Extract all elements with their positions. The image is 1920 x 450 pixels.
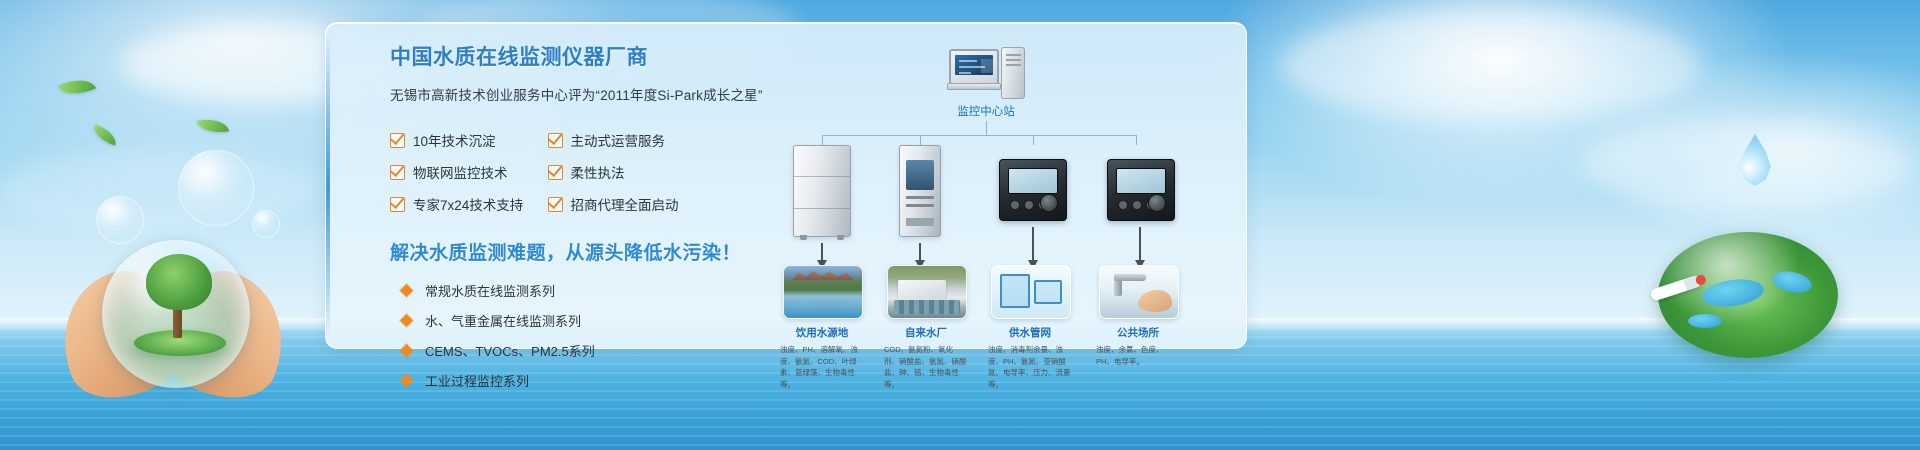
feature-label: 柔性执法	[571, 162, 625, 182]
connector-drop	[822, 135, 823, 145]
down-arrow-icon	[1032, 227, 1034, 261]
page-subtitle: 无锡市高新技术创业服务中心评为“2011年度Si-Park成长之星”	[390, 84, 750, 104]
scenario-card[interactable]: 公共场所 浊度、余氯、色度、PH、电导率。	[1099, 265, 1177, 367]
scenario-card[interactable]: 自来水厂 COD、氨氮粉、氧化剂、硝酸盐、氨氮、硝酸盐、砷、铬、生物毒性等。	[887, 265, 965, 391]
checkbox-checked-icon	[548, 197, 563, 212]
feature-item[interactable]: 柔性执法	[548, 162, 706, 182]
hub-label: 监控中心站	[906, 103, 1066, 119]
scenario-desc: 浊度、余氯、色度、PH、电导率。	[1096, 344, 1180, 367]
pipe-network-photo	[991, 265, 1071, 319]
checklist-row: 专家7x24技术支持 招商代理全面启动	[390, 194, 705, 214]
list-item[interactable]: CEMS、TVOCs、PM2.5系列	[390, 341, 750, 360]
screen-icon	[955, 55, 993, 75]
product-line-list: 常规水质在线监测系列 水、气重金属在线监测系列 CEMS、TVOCs、PM2.5…	[390, 281, 750, 390]
connector-drop	[1136, 135, 1137, 145]
list-item[interactable]: 工业过程监控系列	[390, 371, 750, 390]
content-panel: 中国水质在线监测仪器厂商 无锡市高新技术创业服务中心评为“2011年度Si-Pa…	[325, 22, 1247, 349]
cabinet-analyzer-icon	[793, 145, 851, 237]
feature-label: 主动式运营服务	[571, 130, 666, 150]
feature-checklist: 10年技术沉淀 主动式运营服务 物联网监控技术 柔性执法	[390, 130, 705, 214]
cloud-icon	[1280, 10, 1700, 120]
lake-shape	[1688, 314, 1722, 328]
scenario-card[interactable]: 饮用水源地 浊度、PH、溶解氧、浊度、氨氮、COD、叶绿素、蓝绿藻、生物毒性等。	[783, 265, 861, 391]
device-1[interactable]	[793, 145, 851, 237]
checkbox-checked-icon	[390, 165, 405, 180]
checklist-row: 10年技术沉淀 主动式运营服务	[390, 130, 705, 150]
scenario-desc: COD、氨氮粉、氧化剂、硝酸盐、氨氮、硝酸盐、砷、铬、生物毒性等。	[884, 344, 968, 391]
checkbox-checked-icon	[390, 197, 405, 212]
checkbox-checked-icon	[548, 165, 563, 180]
feature-item[interactable]: 专家7x24技术支持	[390, 194, 548, 214]
feature-item[interactable]: 主动式运营服务	[548, 130, 706, 150]
checkbox-checked-icon	[548, 133, 563, 148]
tree-canopy-icon	[146, 254, 212, 310]
diamond-bullet-icon	[400, 344, 413, 357]
secondary-headline: 解决水质监测难题，从源头降低水污染！	[390, 238, 750, 265]
hands-holding-water-illustration	[60, 230, 290, 400]
green-earth-illustration	[1650, 232, 1846, 372]
down-arrow-icon	[919, 243, 921, 261]
diamond-bullet-icon	[400, 314, 413, 327]
left-column: 中国水质在线监测仪器厂商 无锡市高新技术创业服务中心评为“2011年度Si-Pa…	[390, 41, 750, 401]
rack-analyzer-icon	[899, 145, 941, 237]
server-tower-icon	[1001, 47, 1025, 99]
diamond-bullet-icon	[400, 374, 413, 387]
scenario-desc: 浊度、PH、溶解氧、浊度、氨氮、COD、叶绿素、蓝绿藻、生物毒性等。	[780, 344, 864, 391]
page-title: 中国水质在线监测仪器厂商	[390, 41, 750, 71]
water-plant-photo	[887, 265, 967, 319]
down-arrow-icon	[1139, 227, 1141, 261]
scenario-desc: 浊度、消毒剂余量、浊度、PH、氨氮、亚硝酸氮、电导率、压力、流量等。	[988, 344, 1072, 391]
panel-analyzer-icon	[999, 159, 1067, 221]
tap-water-photo	[1099, 265, 1179, 319]
monitoring-center-icon	[949, 47, 1025, 99]
connector-bus	[822, 135, 1136, 136]
feature-item[interactable]: 物联网监控技术	[390, 162, 548, 182]
connector-line	[986, 121, 987, 135]
checkbox-checked-icon	[390, 133, 405, 148]
product-line-label: CEMS、TVOCs、PM2.5系列	[425, 341, 595, 360]
scenario-card[interactable]: 供水管网 浊度、消毒剂余量、浊度、PH、氨氮、亚硝酸氮、电导率、压力、流量等。	[991, 265, 1069, 391]
keyboard-icon	[947, 83, 1001, 90]
product-line-label: 工业过程监控系列	[425, 371, 529, 390]
product-line-label: 水、气重金属在线监测系列	[425, 311, 581, 330]
hand-icon	[1138, 290, 1172, 312]
device-2[interactable]	[899, 145, 941, 237]
feature-item[interactable]: 10年技术沉淀	[390, 130, 548, 150]
device-4[interactable]	[1107, 159, 1175, 221]
scenario-title: 供水管网	[991, 325, 1069, 340]
scenario-title: 自来水厂	[887, 325, 965, 340]
scenario-title: 公共场所	[1099, 325, 1177, 340]
bubble-icon	[178, 150, 254, 226]
feature-label: 10年技术沉淀	[413, 130, 496, 150]
system-architecture-diagram: 监控中心站	[781, 37, 1231, 342]
diamond-bullet-icon	[400, 284, 413, 297]
list-item[interactable]: 水、气重金属在线监测系列	[390, 311, 750, 330]
list-item[interactable]: 常规水质在线监测系列	[390, 281, 750, 300]
checklist-row: 物联网监控技术 柔性执法	[390, 162, 705, 182]
feature-item[interactable]: 招商代理全面启动	[548, 194, 706, 214]
down-arrow-icon	[821, 243, 823, 261]
scenario-title: 饮用水源地	[783, 325, 861, 340]
river-photo	[783, 265, 863, 319]
computer-monitor-icon	[949, 49, 999, 85]
product-line-label: 常规水质在线监测系列	[425, 281, 555, 300]
feature-label: 招商代理全面启动	[571, 194, 679, 214]
connector-drop	[1033, 135, 1034, 145]
connector-drop	[920, 135, 921, 145]
feature-label: 物联网监控技术	[413, 162, 508, 182]
device-3[interactable]	[999, 159, 1067, 221]
feature-label: 专家7x24技术支持	[413, 194, 523, 214]
panel-analyzer-icon	[1107, 159, 1175, 221]
